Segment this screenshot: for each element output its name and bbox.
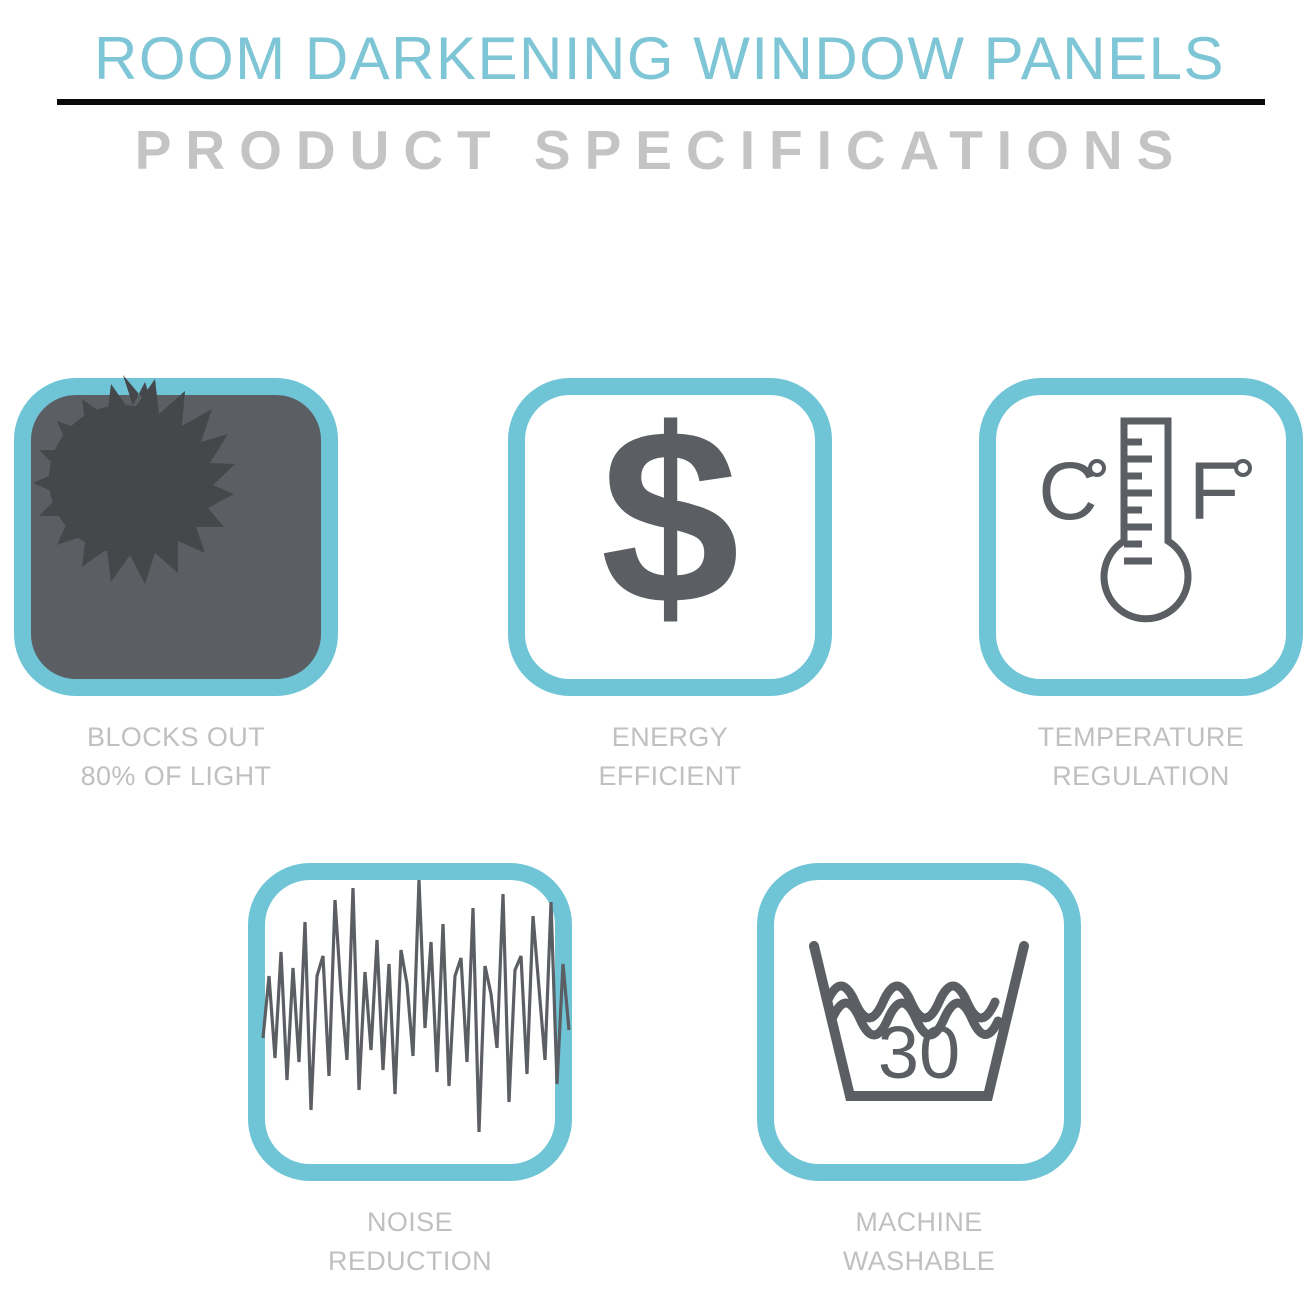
spec-card-noise-reduction: NOISE REDUCTION [248,863,572,1181]
spec-card-machine-washable: 30 MACHINE WASHABLE [757,863,1081,1181]
spec-label-line2: EFFICIENT [598,761,741,791]
header: ROOM DARKENING WINDOW PANELS PRODUCT SPE… [0,0,1314,200]
spec-label-line1: BLOCKS OUT [87,722,265,752]
wash-tub-icon: 30 [774,880,1064,1164]
fahrenheit-label: F [1189,446,1239,537]
page-title: ROOM DARKENING WINDOW PANELS [57,26,1262,92]
spec-label: NOISE REDUCTION [228,1203,592,1281]
thermometer-ticks [1124,442,1152,561]
spec-label-line1: ENERGY [612,722,728,752]
spec-card-blocks-out-light: BLOCKS OUT 80% OF LIGHT [14,378,338,696]
spec-icon-box: C F [979,378,1303,696]
spec-card-energy-efficient: $ ENERGY EFFICIENT [508,378,832,696]
sound-wave-icon [265,880,555,1164]
page-subtitle: PRODUCT SPECIFICATIONS [57,118,1265,182]
spec-label: ENERGY EFFICIENT [488,718,852,796]
thermometer-icon: C F [996,395,1286,679]
wash-temperature-value: 30 [878,1011,960,1094]
spec-card-temperature-regulation: C F TEMPERATURE REGULATION [979,378,1303,696]
dollar-sign-icon: $ [525,395,815,679]
spec-icon-box [14,378,338,696]
spec-label: BLOCKS OUT 80% OF LIGHT [0,718,358,796]
spec-label-line1: NOISE [367,1207,453,1237]
title-divider [57,99,1265,105]
spec-label-line2: REDUCTION [328,1246,492,1276]
spec-label-line2: REGULATION [1052,761,1230,791]
spec-label-line1: TEMPERATURE [1038,722,1244,752]
dollar-glyph: $ [600,395,739,656]
spec-label-line2: 80% OF LIGHT [81,761,272,791]
spec-label-line2: WASHABLE [843,1246,995,1276]
spec-label-line1: MACHINE [855,1207,982,1237]
spec-label: MACHINE WASHABLE [737,1203,1101,1281]
spec-icon-box [248,863,572,1181]
spec-label: TEMPERATURE REGULATION [959,718,1314,796]
sun-icon [31,395,321,679]
product-specifications-infographic: ROOM DARKENING WINDOW PANELS PRODUCT SPE… [0,0,1314,1314]
spec-icon-box: $ [508,378,832,696]
spec-icon-box: 30 [757,863,1081,1181]
celsius-label: C [1038,446,1097,537]
